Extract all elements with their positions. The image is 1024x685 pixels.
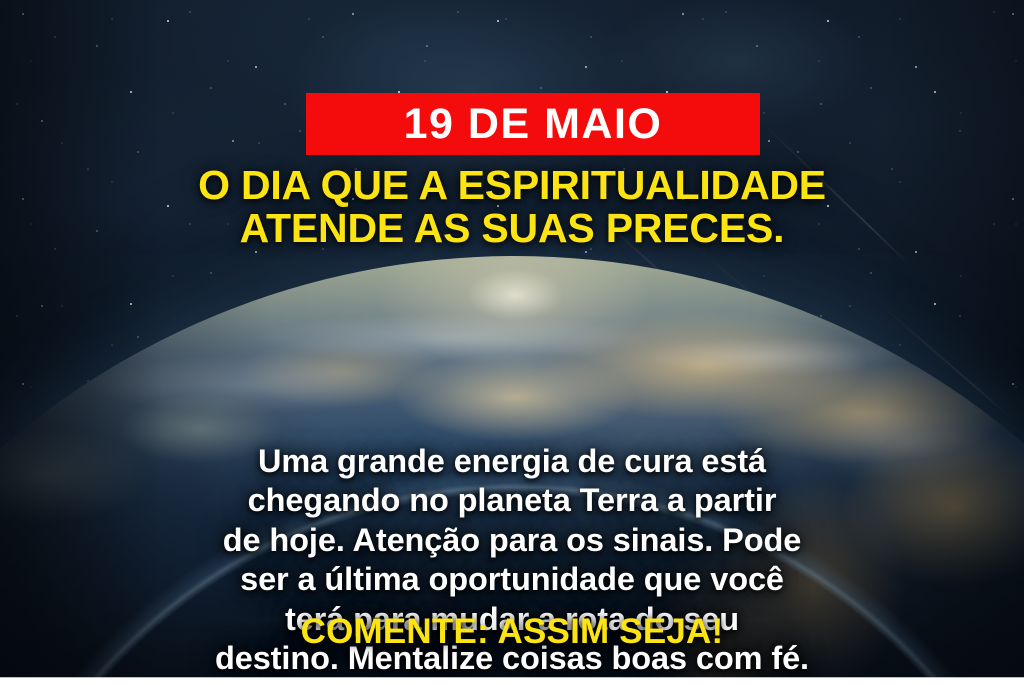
date-banner-label: 19 DE MAIO — [404, 103, 663, 146]
body-line-2: chegando no planeta Terra a partir — [54, 481, 970, 520]
body-line-3: de hoje. Atenção para os sinais. Pode — [54, 521, 970, 560]
headline-line-1: O DIA QUE A ESPIRITUALIDADE — [0, 164, 1024, 207]
date-banner: 19 DE MAIO — [306, 93, 760, 155]
headline-line-2: ATENDE AS SUAS PRECES. — [0, 207, 1024, 250]
poster-canvas: 19 DE MAIO O DIA QUE A ESPIRITUALIDADE A… — [0, 0, 1024, 685]
poster-content: 19 DE MAIO O DIA QUE A ESPIRITUALIDADE A… — [0, 0, 1024, 685]
body-line-1: Uma grande energia de cura está — [54, 442, 970, 481]
headline: O DIA QUE A ESPIRITUALIDADE ATENDE AS SU… — [0, 164, 1024, 250]
bottom-white-strip — [0, 678, 1024, 685]
body-line-4: ser a última oportunidade que você — [54, 560, 970, 599]
call-to-action-label: COMENTE: ASSIM SEJA! — [0, 614, 1024, 649]
